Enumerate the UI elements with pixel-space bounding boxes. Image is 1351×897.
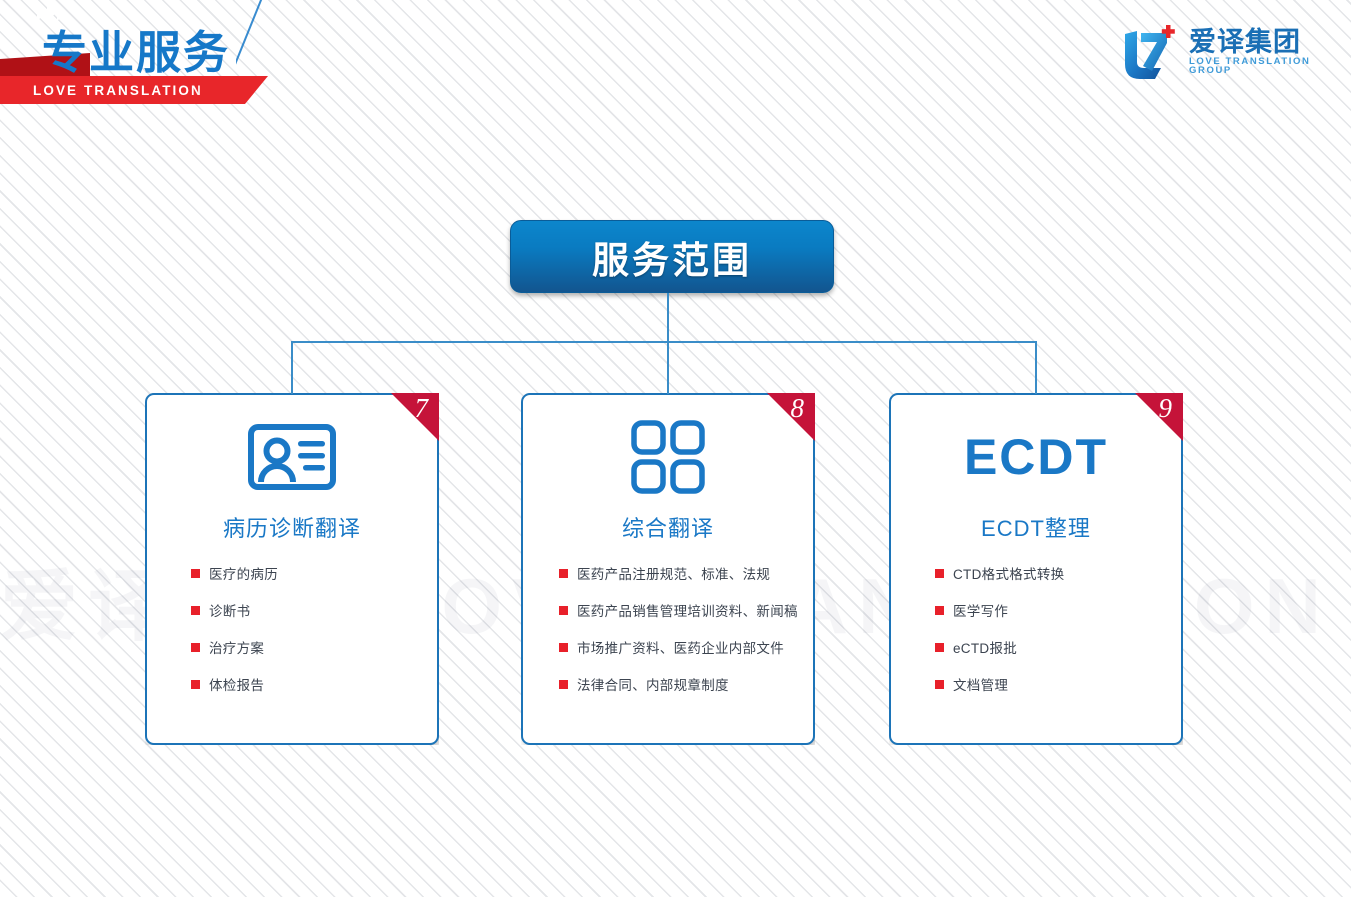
- card-title: 病历诊断翻译: [223, 511, 361, 543]
- list-item: CTD格式格式转换: [935, 563, 1183, 583]
- bullet-square-icon: [935, 680, 944, 689]
- service-scope-flowchart: 服务范围 7 病历诊断翻译: [0, 118, 1351, 897]
- card-bullet-list: 医疗的病历 诊断书 治疗方案 体检报告: [145, 563, 439, 711]
- card-title: 综合翻译: [622, 511, 714, 543]
- ecdt-text-icon: ECDT: [964, 411, 1108, 503]
- service-card[interactable]: 7 病历诊断翻译 医疗的病历: [145, 393, 439, 745]
- card-bullet-list: CTD格式格式转换 医学写作 eCTD报批 文档管理: [889, 563, 1183, 711]
- bullet-text: eCTD报批: [953, 637, 1017, 657]
- bullet-text: 诊断书: [209, 600, 250, 620]
- bullet-text: 文档管理: [953, 674, 1008, 694]
- connector-drop-2: [667, 341, 669, 394]
- list-item: 诊断书: [191, 600, 439, 620]
- card-bullet-list: 医药产品注册规范、标准、法规 医药产品销售管理培训资料、新闻稿 市场推广资料、医…: [521, 563, 815, 711]
- company-logo: 爱译集团 LOVE TRANSLATION GROUP: [1119, 14, 1337, 90]
- header-diagonal-accent: [236, 0, 326, 118]
- page-title: 专业服务: [42, 16, 230, 81]
- list-item: 医学写作: [935, 600, 1183, 620]
- service-card[interactable]: 9 ECDT ECDT整理 CTD格式格式转换 医学写作 eCTD报批: [889, 393, 1183, 745]
- list-item: 医疗的病历: [191, 563, 439, 583]
- list-item: 治疗方案: [191, 637, 439, 657]
- list-item: 文档管理: [935, 674, 1183, 694]
- bullet-square-icon: [191, 643, 200, 652]
- list-item: 医药产品销售管理培训资料、新闻稿: [559, 600, 815, 620]
- list-item: 法律合同、内部规章制度: [559, 674, 815, 694]
- connector-drop-3: [1035, 341, 1037, 394]
- bullet-text: 医药产品销售管理培训资料、新闻稿: [577, 600, 798, 620]
- id-card-person-icon: [248, 411, 336, 503]
- list-item: 市场推广资料、医药企业内部文件: [559, 637, 815, 657]
- bullet-text: 医疗的病历: [209, 563, 278, 583]
- bullet-square-icon: [191, 606, 200, 615]
- bullet-text: 体检报告: [209, 674, 264, 694]
- bullet-text: 法律合同、内部规章制度: [577, 674, 729, 694]
- bullet-text: CTD格式格式转换: [953, 563, 1064, 583]
- logo-english-name: LOVE TRANSLATION GROUP: [1189, 57, 1337, 76]
- bullet-square-icon: [191, 680, 200, 689]
- bullet-square-icon: [935, 643, 944, 652]
- connector-drop-1: [291, 341, 293, 394]
- list-item: 医药产品注册规范、标准、法规: [559, 563, 815, 583]
- bullet-square-icon: [559, 643, 568, 652]
- root-node-label: 服务范围: [592, 230, 752, 284]
- list-item: 体检报告: [191, 674, 439, 694]
- service-card[interactable]: 8 综合翻译 医药产品注册规范、标准、法规 医药产品销售管理培训: [521, 393, 815, 745]
- ecdt-icon-label: ECDT: [964, 432, 1108, 482]
- four-squares-grid-icon: [630, 411, 706, 503]
- bullet-square-icon: [935, 569, 944, 578]
- bullet-square-icon: [559, 680, 568, 689]
- connector-horizontal-bus: [291, 341, 1036, 343]
- bullet-text: 医药产品注册规范、标准、法规: [577, 563, 770, 583]
- connector-vertical-root: [667, 293, 669, 342]
- bullet-square-icon: [559, 569, 568, 578]
- bullet-square-icon: [191, 569, 200, 578]
- love-translation-l7-logo-icon: [1119, 22, 1183, 82]
- bullet-text: 治疗方案: [209, 637, 264, 657]
- list-item: eCTD报批: [935, 637, 1183, 657]
- bullet-text: 市场推广资料、医药企业内部文件: [577, 637, 784, 657]
- logo-chinese-name: 爱译集团: [1189, 29, 1337, 56]
- root-node-service-scope[interactable]: 服务范围: [510, 220, 834, 293]
- bullet-square-icon: [559, 606, 568, 615]
- card-title: ECDT整理: [981, 511, 1091, 543]
- bullet-square-icon: [935, 606, 944, 615]
- bullet-text: 医学写作: [953, 600, 1008, 620]
